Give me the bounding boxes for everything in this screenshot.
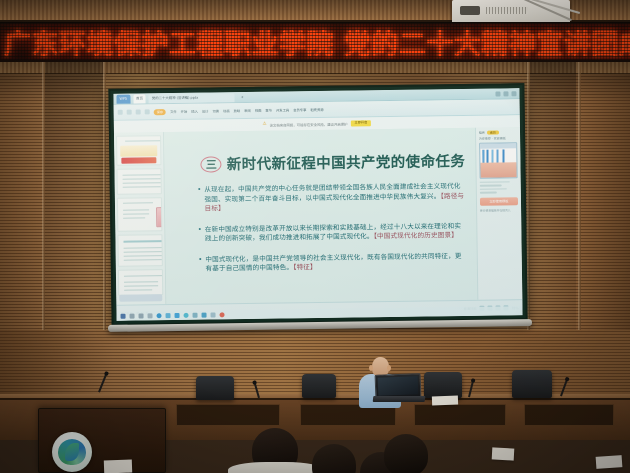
warning-icon: ⚠ <box>262 122 266 127</box>
paper-sheet <box>104 460 132 473</box>
template-sidebar[interactable]: 稻壳 会员 为你推荐 · 党政模板 立即使用 <box>475 127 523 300</box>
bullet-body: 从现在起，中国共产党的中心任务就是团结带领全国各族人民全面建成社会主义现代化强国… <box>204 182 460 203</box>
sidebar-header: 稻壳 会员 <box>479 130 517 135</box>
slide-bullet-text: 中国式现代化，是中国共产党领导的社会主义现代化，既有各国现代化的共同特征，更有基… <box>205 251 467 274</box>
ribbon-tab-6[interactable]: 放映 <box>234 108 241 113</box>
chat-icon[interactable] <box>184 313 189 318</box>
bullet-marker-icon: • <box>198 225 202 244</box>
slide-bullet: • 在新中国成立特别是改革开放以来长期探索和实践基础上，经过十八大以来在理论和实… <box>198 221 467 244</box>
chair <box>196 376 234 400</box>
chair <box>302 374 336 398</box>
ribbon-tab-4[interactable]: 切换 <box>212 108 219 113</box>
paper-sheet <box>432 396 458 406</box>
laptop-display <box>378 376 419 395</box>
record-icon[interactable] <box>219 312 224 317</box>
wall-column-shadow <box>45 62 103 362</box>
minimize-icon[interactable] <box>495 91 500 96</box>
settings-icon[interactable] <box>192 313 197 318</box>
wall-seam <box>578 62 581 362</box>
media-icon[interactable] <box>201 313 206 318</box>
school-emblem-logo <box>52 432 92 472</box>
ribbon-tab-5[interactable]: 动画 <box>223 108 230 113</box>
security-notice-text: 该文档来自网络，可能存在安全风险，建议开启保护 <box>270 121 348 127</box>
dais-inset-panel <box>524 404 614 426</box>
redo-icon[interactable] <box>136 109 141 114</box>
sidebar-tab-label[interactable]: 稻壳 <box>479 131 485 135</box>
sidebar-text-lines <box>480 181 518 193</box>
notes-icon[interactable] <box>210 312 215 317</box>
wps-new-tab-button[interactable]: + <box>238 92 247 101</box>
paper-sheet <box>596 455 623 469</box>
laptop-screen <box>375 373 422 399</box>
thumbnail-slide[interactable] <box>116 135 162 166</box>
wps-workspace: 三 新时代新征程中国共产党的使命任务 • 从现在起，中国共产党的中心任务就是团结… <box>114 127 522 305</box>
chair <box>424 372 462 398</box>
speaker-ear-left <box>369 365 373 371</box>
thumbnail-portrait-image <box>156 207 163 227</box>
ribbon-tab-11[interactable]: 会员专享 <box>293 107 306 112</box>
task-view-icon[interactable] <box>139 313 144 318</box>
thumbnail-pane-footer[interactable] <box>119 294 162 302</box>
dais-inset-panel <box>176 404 280 426</box>
undo-icon[interactable] <box>127 110 132 115</box>
slide-thumbnail-pane[interactable] <box>114 132 167 305</box>
projection-screen-surface: WPS 首页 党的二十大精神 (宣讲稿).pptx + 保存 文件 开始 插入 … <box>113 88 522 321</box>
wps-document-tab[interactable]: 党的二十大精神 (宣讲稿).pptx <box>149 93 235 103</box>
bullet-marker-icon: • <box>197 186 202 215</box>
template-preview-footer <box>480 162 516 178</box>
paper-sheet <box>492 447 515 460</box>
thumbnail-slide[interactable] <box>116 168 162 195</box>
slide-canvas[interactable]: 三 新时代新征程中国共产党的使命任务 • 从现在起，中国共产党的中心任务就是团结… <box>164 128 477 304</box>
audience-head <box>312 444 356 473</box>
slide-bullet: • 中国式现代化，是中国共产党领导的社会主义现代化，既有各国现代化的共同特征，更… <box>198 251 467 274</box>
member-badge[interactable]: 会员 <box>487 130 499 134</box>
led-banner-text: 广东环境保护工程职业学院 党的二十大精神宣讲团成员培训会 <box>4 22 630 61</box>
thumbnail-slide[interactable] <box>117 197 163 232</box>
speaker-ear-right <box>387 365 391 371</box>
titlebar-spacer <box>250 94 493 97</box>
wps-icon[interactable] <box>175 313 180 318</box>
heading-number-badge: 三 <box>201 156 222 172</box>
lecture-hall-photo: 广东环境保护工程职业学院 党的二十大精神宣讲团成员培训会 WPS 首页 党的二十… <box>0 0 630 473</box>
thumbnail-slide[interactable] <box>118 269 164 296</box>
template-preview-thumbnail[interactable] <box>479 142 518 179</box>
ribbon-tab-12[interactable]: 稻壳资源 <box>310 107 323 112</box>
led-banner: 广东环境保护工程职业学院 党的二十大精神宣讲团成员培训会 <box>0 22 630 62</box>
projector-lens-icon <box>460 6 480 15</box>
projection-screen: WPS 首页 党的二十大精神 (宣讲稿).pptx + 保存 文件 开始 插入 … <box>108 83 527 326</box>
slide-heading: 三 新时代新征程中国共产党的使命任务 <box>201 150 466 175</box>
print-icon[interactable] <box>145 109 150 114</box>
ribbon-tab-9[interactable]: 章节 <box>265 108 272 113</box>
ribbon-tab-10[interactable]: 开发工具 <box>276 107 289 112</box>
folder-icon[interactable] <box>148 313 153 318</box>
use-template-button[interactable]: 立即使用模板 <box>480 197 518 206</box>
laptop-keyboard <box>373 396 426 402</box>
slide-bullet: • 从现在起，中国共产党的中心任务就是团结带领全国各族人民全面建成社会主义现代化… <box>197 182 466 214</box>
bullet-tag: 【中国式现代化的历史图景】 <box>374 231 458 240</box>
wall-column-shadow <box>530 62 576 362</box>
slide-bullet-text: 从现在起，中国共产党的中心任务就是团结带领全国各族人民全面建成社会主义现代化强国… <box>204 182 466 214</box>
template-preview-titlebar <box>480 143 516 149</box>
bullet-body: 中国式现代化，是中国共产党领导的社会主义现代化，既有各国现代化的共同特征，更有基… <box>205 252 461 273</box>
start-icon[interactable] <box>121 314 126 319</box>
dais-inset-panel <box>414 404 506 426</box>
maximize-icon[interactable] <box>503 91 508 96</box>
slide-bullet-text: 在新中国成立特别是改革开放以来长期探索和实践基础上，经过十八大以来在理论和实践上… <box>205 221 467 244</box>
enable-protection-button[interactable]: 立即开启 <box>350 121 371 126</box>
projector-vent <box>486 7 528 14</box>
ribbon-tab-2[interactable]: 插入 <box>191 109 198 114</box>
search-icon[interactable] <box>130 314 135 319</box>
wall-seam <box>103 62 106 362</box>
slide-heading-text: 新时代新征程中国共产党的使命任务 <box>227 150 466 174</box>
browser-icon[interactable] <box>157 313 162 318</box>
sidebar-subtitle: 为你推荐 · 党政模板 <box>479 136 517 141</box>
ribbon-tab-0[interactable]: 文件 <box>170 109 177 114</box>
ribbon-save-pill[interactable]: 保存 <box>154 109 166 115</box>
audience-head <box>384 434 428 473</box>
chair <box>512 370 552 398</box>
wps-brand-tab[interactable]: WPS <box>116 94 130 103</box>
ribbon-tab-1[interactable]: 开始 <box>181 109 188 114</box>
thumbnail-slide[interactable] <box>117 234 163 267</box>
sidebar-footer-note: 更多精美模板尽在稻壳儿 <box>480 208 518 213</box>
mail-icon[interactable] <box>166 313 171 318</box>
save-icon[interactable] <box>118 110 123 115</box>
bullet-tag: 【特征】 <box>293 263 317 271</box>
ribbon-tab-8[interactable]: 视图 <box>255 108 262 113</box>
bullet-marker-icon: • <box>198 255 202 274</box>
wps-home-tab[interactable]: 首页 <box>133 94 146 103</box>
ribbon-tab-7[interactable]: 审阅 <box>244 108 251 113</box>
audience-shoulders <box>228 462 324 473</box>
close-icon[interactable] <box>511 91 516 96</box>
ribbon-tab-3[interactable]: 设计 <box>202 109 209 114</box>
